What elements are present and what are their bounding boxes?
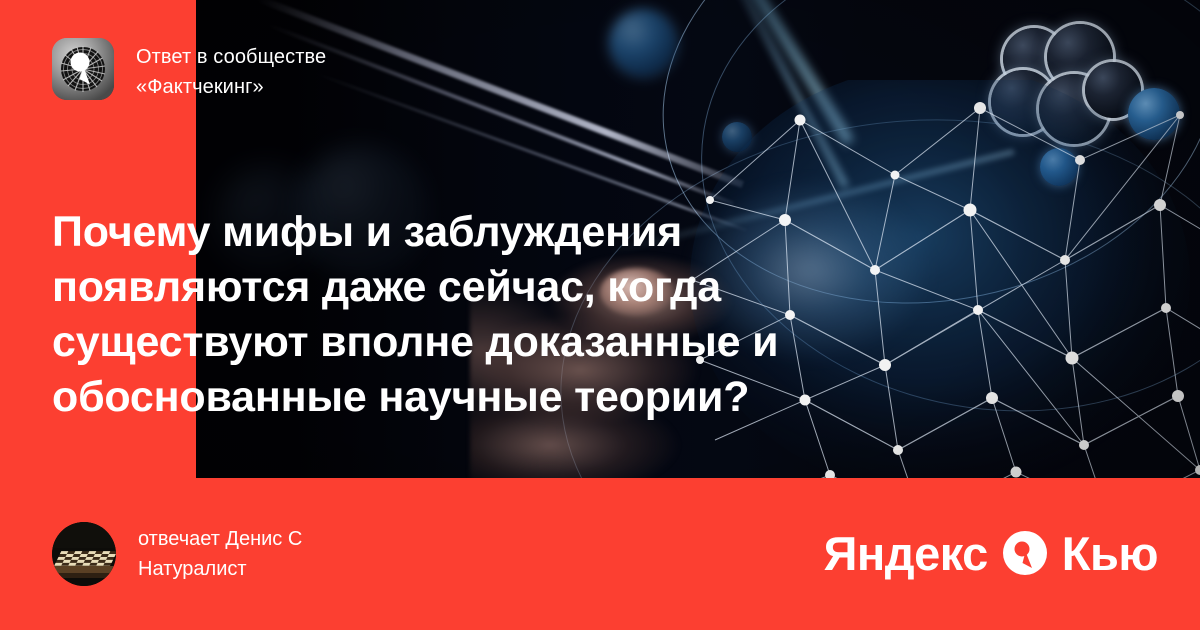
community-header-text: Ответ в сообществе «Фактчекинг» <box>136 38 326 102</box>
card-footer: отвечает Денис С Натуралист Яндекс Кью <box>0 478 1200 630</box>
community-header: Ответ в сообществе «Фактчекинг» <box>52 38 326 102</box>
yandex-q-keyhole-icon <box>1003 531 1047 575</box>
share-card: Ответ в сообществе «Фактчекинг» Почему м… <box>0 0 1200 630</box>
chessboard-icon <box>52 522 116 586</box>
author-info: отвечает Денис С Натуралист <box>138 524 302 584</box>
page-title: Почему мифы и заблуждения появляются даж… <box>52 205 852 425</box>
answered-by-label: отвечает Денис С <box>138 524 302 554</box>
author-block[interactable]: отвечает Денис С Натуралист <box>52 522 302 586</box>
logo-word-yandex: Яндекс <box>824 530 988 577</box>
yandex-q-logo[interactable]: Яндекс Кью <box>824 530 1158 579</box>
community-header-line2: «Фактчекинг» <box>136 72 326 102</box>
author-avatar[interactable] <box>52 522 116 586</box>
logo-word-q: Кью <box>1062 530 1158 577</box>
keyhole-spiral-icon <box>52 38 114 100</box>
community-header-line1: Ответ в сообществе <box>136 42 326 72</box>
community-avatar[interactable] <box>52 38 114 100</box>
author-role-label: Натуралист <box>138 554 302 584</box>
